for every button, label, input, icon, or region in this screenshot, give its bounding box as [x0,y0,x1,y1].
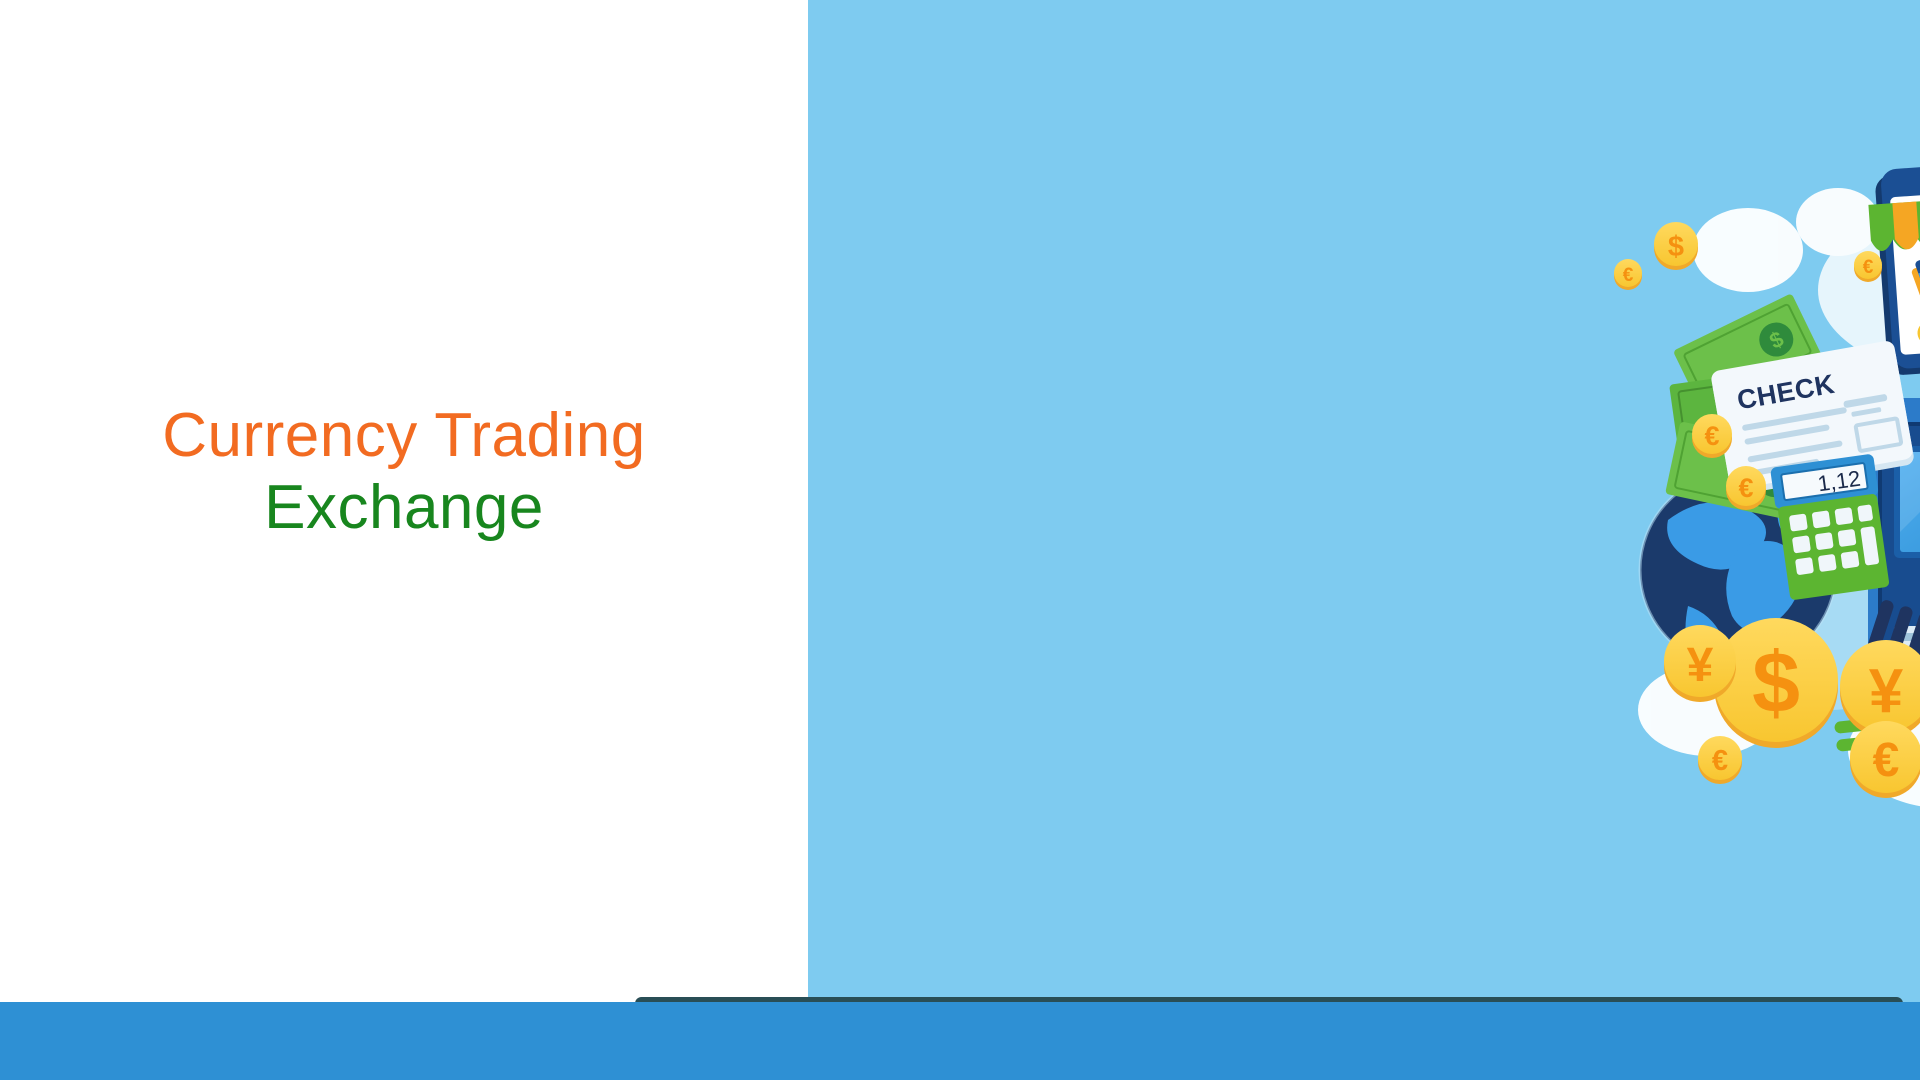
title-line-1: Currency Trading [0,400,808,472]
coin-euro-medium: € [1850,721,1920,798]
page-title: Currency Trading Exchange [0,400,808,544]
coin-yen-left: ¥ [1664,625,1736,702]
title-line-2: Exchange [0,472,808,544]
svg-text:€: € [1623,265,1634,286]
coin-dollar-large: $ [1714,618,1838,748]
footer-band [0,1002,1920,1080]
svg-text:¥: ¥ [1687,639,1714,692]
coin-euro-tiny-topleft: € [1614,259,1642,290]
right-illustration-panel: $ $ $ [808,0,1920,1002]
coin-euro-tiny-mid: € [1854,251,1882,282]
coin-euro-midleft: € [1692,414,1732,458]
svg-text:$: $ [1752,635,1800,731]
calculator-graphic: 1,12 [1770,454,1892,601]
svg-text:$: $ [1668,231,1684,263]
svg-text:€: € [1704,421,1719,451]
coin-euro-small-bottom: € [1698,736,1742,784]
slide-canvas: $ $ $ [0,0,1920,1080]
currency-exchange-illustration: $ $ $ [1628,150,1920,830]
svg-text:€: € [1738,473,1753,503]
coin-euro-globe-top: € [1726,466,1766,510]
coin-dollar-small-topleft: $ [1654,222,1698,270]
svg-text:€: € [1873,734,1900,787]
svg-text:€: € [1712,745,1728,777]
svg-text:¥: ¥ [1869,657,1904,726]
svg-text:€: € [1863,257,1874,278]
